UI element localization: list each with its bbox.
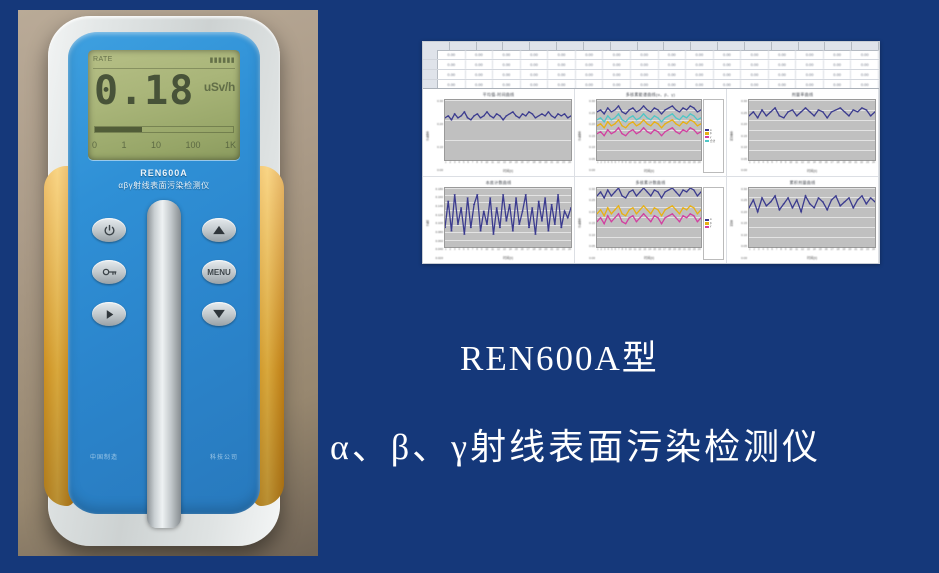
center-handle-strip bbox=[147, 200, 181, 528]
table-cell: 0.00 bbox=[741, 70, 769, 79]
table-cell: 0.00 bbox=[851, 50, 879, 59]
lcd-status-left: RATE bbox=[93, 56, 113, 63]
title-model: REN600A型 bbox=[460, 330, 930, 381]
product-photo: RATE ▮▮▮▮▮▮ 0.18 uSv/h 0 1 10 100 1K bbox=[18, 10, 318, 556]
table-cell: 0.00 bbox=[603, 70, 631, 79]
menu-button[interactable]: MENU bbox=[202, 260, 236, 284]
table-cell: 0.00 bbox=[576, 70, 604, 79]
chart-plot-area bbox=[748, 99, 876, 161]
table-cell: 0.00 bbox=[521, 80, 549, 89]
table-cell: 0.00 bbox=[741, 60, 769, 69]
table-cell: 0.00 bbox=[824, 70, 852, 79]
table-row: 0.000.000.000.000.000.000.000.000.000.00… bbox=[423, 60, 879, 70]
lcd-scale-tick: 0 bbox=[92, 140, 97, 150]
table-cell: 0.00 bbox=[686, 50, 714, 59]
play-button[interactable] bbox=[92, 302, 126, 326]
key-icon bbox=[102, 266, 117, 278]
lcd-scale-tick: 1 bbox=[121, 140, 126, 150]
table-cell: 0.00 bbox=[493, 60, 521, 69]
table-cell: 0.00 bbox=[659, 80, 687, 89]
table-cell: 0.00 bbox=[769, 80, 797, 89]
chart-plot-area bbox=[444, 187, 572, 249]
table-cell: 0.00 bbox=[659, 70, 687, 79]
power-button[interactable] bbox=[92, 218, 126, 242]
lcd-scale: 0 1 10 100 1K bbox=[92, 138, 236, 152]
table-cell: 0.00 bbox=[548, 80, 576, 89]
table-cell: 0.00 bbox=[769, 70, 797, 79]
table-cell: 0.00 bbox=[466, 50, 494, 59]
lcd-reading: 0.18 bbox=[94, 70, 194, 112]
table-cell: 0.00 bbox=[466, 70, 494, 79]
table-cell: 0.00 bbox=[466, 60, 494, 69]
table-cell: 0.00 bbox=[521, 50, 549, 59]
chart-title: 本底计数曲线 bbox=[425, 180, 572, 186]
table-cell: 0.00 bbox=[851, 70, 879, 79]
chart-plot-area bbox=[596, 187, 702, 249]
table-cell: 0.00 bbox=[438, 50, 466, 59]
table-cell: 0.00 bbox=[631, 50, 659, 59]
table-cell: 0.00 bbox=[824, 60, 852, 69]
chart-panel: 平均值-时间曲线计数率0.300.200.100.001234567891011… bbox=[423, 89, 575, 177]
table-cell: 0.00 bbox=[576, 80, 604, 89]
table-cell: 0.00 bbox=[631, 60, 659, 69]
legend-item: γ bbox=[705, 225, 722, 228]
row-header bbox=[423, 50, 438, 59]
table-cell: 0.00 bbox=[438, 60, 466, 69]
triangle-down-icon bbox=[212, 308, 226, 320]
table-cell: 0.00 bbox=[548, 60, 576, 69]
chart-panel: 多核素能谱曲线(α、β、γ)计数率0.300.250.200.150.100.0… bbox=[575, 89, 727, 177]
chart-title: 平均值-时间曲线 bbox=[425, 92, 572, 98]
play-icon bbox=[103, 308, 116, 321]
table-cell: 0.00 bbox=[576, 60, 604, 69]
table-cell: 0.00 bbox=[576, 50, 604, 59]
chart-panel: 本底计数曲线计数0.1800.1600.1400.1200.1000.0800.… bbox=[423, 177, 575, 265]
chart-x-ticks: 123456789101112131415161718192021222324 bbox=[596, 248, 702, 255]
table-cell: 0.00 bbox=[714, 70, 742, 79]
table-cell: 0.00 bbox=[603, 80, 631, 89]
chart-plot-area bbox=[444, 99, 572, 161]
device-footer-text: 中国制造 科技公司 bbox=[68, 452, 260, 461]
table-cell: 0.00 bbox=[493, 70, 521, 79]
table-cell: 0.00 bbox=[686, 60, 714, 69]
menu-button-label: MENU bbox=[207, 268, 231, 277]
lcd-scale-tick: 1K bbox=[225, 140, 236, 150]
down-button[interactable] bbox=[202, 302, 236, 326]
device-brand: REN600A bbox=[68, 168, 260, 178]
legend-item: 合计 bbox=[705, 139, 722, 143]
lcd-status-row: RATE ▮▮▮▮▮▮ bbox=[93, 53, 235, 66]
spreadsheet-rows: 0.000.000.000.000.000.000.000.000.000.00… bbox=[423, 50, 879, 88]
table-cell: 0.00 bbox=[769, 60, 797, 69]
detector-device: RATE ▮▮▮▮▮▮ 0.18 uSv/h 0 1 10 100 1K bbox=[48, 16, 280, 546]
chart-legend: αβγ bbox=[703, 187, 724, 261]
lcd-display: RATE ▮▮▮▮▮▮ 0.18 uSv/h 0 1 10 100 1K bbox=[88, 50, 240, 160]
power-icon bbox=[103, 224, 116, 237]
table-cell: 0.00 bbox=[659, 60, 687, 69]
table-row: 0.000.000.000.000.000.000.000.000.000.00… bbox=[423, 80, 879, 89]
table-cell: 0.00 bbox=[548, 70, 576, 79]
table-cell: 0.00 bbox=[851, 60, 879, 69]
chart-y-ticks: 0.300.250.200.150.100.050.00 bbox=[734, 187, 748, 261]
table-cell: 0.00 bbox=[796, 50, 824, 59]
table-cell: 0.00 bbox=[521, 70, 549, 79]
lcd-status-right: ▮▮▮▮▮▮ bbox=[209, 56, 235, 64]
table-cell: 0.00 bbox=[631, 80, 659, 89]
table-cell: 0.00 bbox=[466, 80, 494, 89]
chart-panel: 剂量率曲线剂量率0.300.250.200.150.100.050.001234… bbox=[727, 89, 879, 177]
chart-y-ticks: 0.300.200.100.00 bbox=[430, 99, 444, 173]
chart-title: 多核素能谱曲线(α、β、γ) bbox=[577, 92, 724, 98]
table-cell: 0.00 bbox=[796, 60, 824, 69]
chart-x-axis-label: 时间(s) bbox=[444, 255, 572, 260]
chart-x-ticks: 123456789101112131415161718192021222324 bbox=[748, 161, 876, 168]
chart-x-axis-label: 时间(s) bbox=[596, 168, 702, 173]
table-cell: 0.00 bbox=[659, 50, 687, 59]
chart-y-ticks: 0.300.250.200.150.100.050.00 bbox=[582, 99, 596, 173]
table-cell: 0.00 bbox=[741, 50, 769, 59]
table-cell: 0.00 bbox=[769, 50, 797, 59]
table-cell: 0.00 bbox=[796, 80, 824, 89]
chart-title: 累积剂量曲线 bbox=[729, 180, 876, 186]
table-row: 0.000.000.000.000.000.000.000.000.000.00… bbox=[423, 70, 879, 80]
table-cell: 0.00 bbox=[824, 80, 852, 89]
table-cell: 0.00 bbox=[824, 50, 852, 59]
table-cell: 0.00 bbox=[686, 70, 714, 79]
chart-grid: 平均值-时间曲线计数率0.300.200.100.001234567891011… bbox=[423, 89, 879, 264]
table-cell: 0.00 bbox=[493, 50, 521, 59]
row-header bbox=[423, 80, 438, 89]
table-cell: 0.00 bbox=[686, 80, 714, 89]
row-header bbox=[423, 60, 438, 69]
device-front-panel: RATE ▮▮▮▮▮▮ 0.18 uSv/h 0 1 10 100 1K bbox=[68, 32, 260, 514]
chart-x-ticks: 123456789101112131415161718192021222324 bbox=[596, 161, 702, 168]
chart-title: 剂量率曲线 bbox=[729, 92, 876, 98]
lcd-scale-tick: 100 bbox=[185, 140, 200, 150]
chart-panel: 累积剂量曲线剂量0.300.250.200.150.100.050.001234… bbox=[727, 177, 879, 265]
chart-x-axis-label: 时间(s) bbox=[444, 168, 572, 173]
software-screenshot-panel: 0.000.000.000.000.000.000.000.000.000.00… bbox=[422, 41, 880, 264]
chart-plot-area bbox=[596, 99, 702, 161]
table-cell: 0.00 bbox=[548, 50, 576, 59]
chart-panel: 多核素计数曲线计数率0.300.250.200.150.100.050.0012… bbox=[575, 177, 727, 265]
table-cell: 0.00 bbox=[741, 80, 769, 89]
table-cell: 0.00 bbox=[714, 50, 742, 59]
chart-y-ticks: 0.300.250.200.150.100.050.00 bbox=[582, 187, 596, 261]
lcd-unit: uSv/h bbox=[204, 80, 235, 94]
up-button[interactable] bbox=[202, 218, 236, 242]
backlight-button[interactable] bbox=[92, 260, 126, 284]
table-cell: 0.00 bbox=[714, 60, 742, 69]
device-label: REN600A αβγ射线表面污染检测仪 bbox=[68, 168, 260, 191]
chart-x-ticks: 123456789101112131415161718192021222324 bbox=[748, 248, 876, 255]
footer-left: 中国制造 bbox=[90, 452, 118, 461]
chart-y-ticks: 0.300.250.200.150.100.050.00 bbox=[734, 99, 748, 173]
table-cell: 0.00 bbox=[631, 70, 659, 79]
device-description: αβγ射线表面污染检测仪 bbox=[68, 180, 260, 191]
lcd-scale-tick: 10 bbox=[151, 140, 161, 150]
triangle-up-icon bbox=[212, 224, 226, 236]
table-cell: 0.00 bbox=[603, 60, 631, 69]
spreadsheet-area: 0.000.000.000.000.000.000.000.000.000.00… bbox=[423, 42, 879, 89]
table-cell: 0.00 bbox=[438, 80, 466, 89]
chart-title: 多核素计数曲线 bbox=[577, 180, 724, 186]
row-header bbox=[423, 70, 438, 79]
chart-plot-area bbox=[748, 187, 876, 249]
table-cell: 0.00 bbox=[521, 60, 549, 69]
table-cell: 0.00 bbox=[438, 70, 466, 79]
table-cell: 0.00 bbox=[851, 80, 879, 89]
chart-y-ticks: 0.1800.1600.1400.1200.1000.0800.0600.040… bbox=[430, 187, 444, 261]
chart-x-ticks: 123456789101112131415161718192021222324 bbox=[444, 161, 572, 168]
table-cell: 0.00 bbox=[714, 80, 742, 89]
table-cell: 0.00 bbox=[493, 80, 521, 89]
chart-x-ticks: 123456789101112131415161718192021222324 bbox=[444, 248, 572, 255]
table-cell: 0.00 bbox=[603, 50, 631, 59]
title-product: α、β、γ射线表面污染检测仪 bbox=[330, 418, 939, 470]
chart-x-axis-label: 时间(s) bbox=[596, 255, 702, 260]
chart-x-axis-label: 时间(s) bbox=[748, 255, 876, 260]
lcd-bargraph bbox=[94, 126, 234, 133]
table-row: 0.000.000.000.000.000.000.000.000.000.00… bbox=[423, 50, 879, 60]
slide-canvas: RATE ▮▮▮▮▮▮ 0.18 uSv/h 0 1 10 100 1K bbox=[0, 0, 939, 573]
table-cell: 0.00 bbox=[796, 70, 824, 79]
chart-legend: αβγ合计 bbox=[703, 99, 724, 173]
chart-x-axis-label: 时间(s) bbox=[748, 168, 876, 173]
footer-right: 科技公司 bbox=[210, 452, 238, 461]
